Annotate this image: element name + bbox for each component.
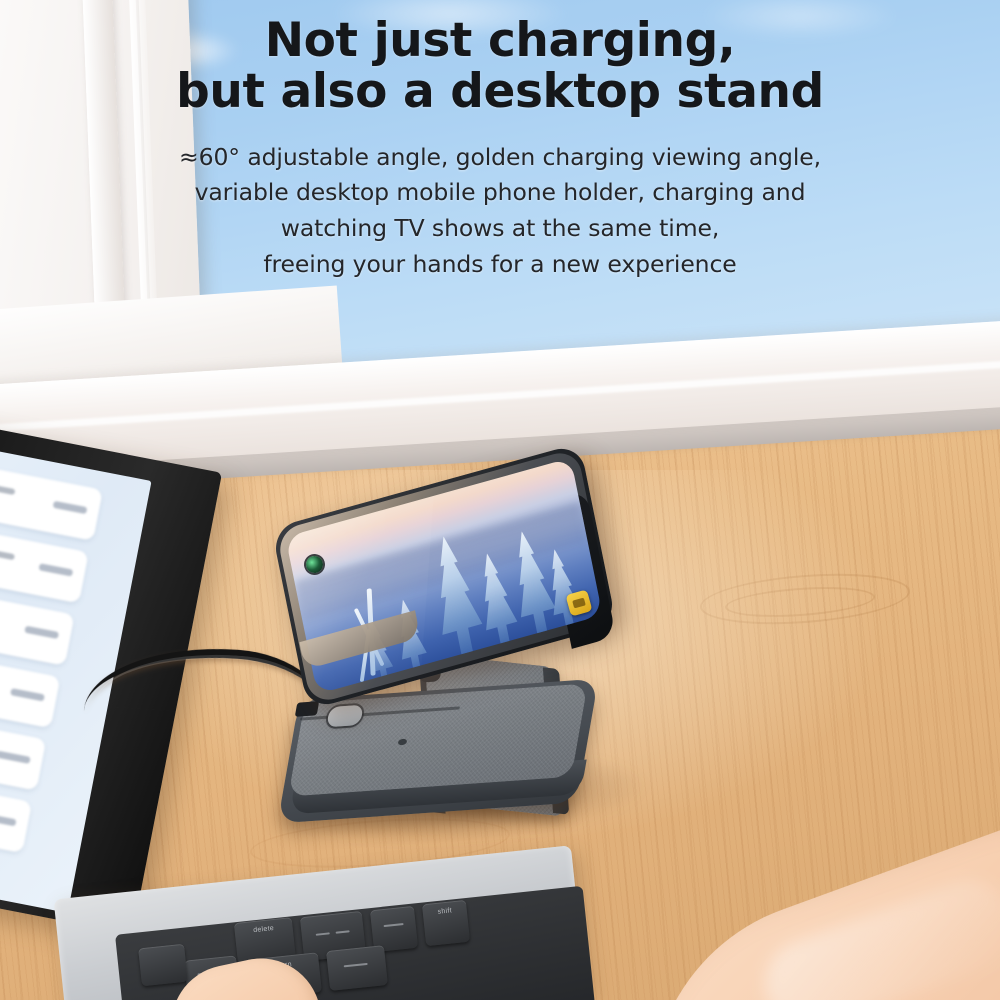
marketing-copy: Not just charging, but also a desktop st…	[0, 0, 1000, 282]
key-shift[interactable]: shift	[422, 900, 470, 946]
headline-line-2: but also a desktop stand	[0, 67, 1000, 118]
key-label: delete	[234, 923, 292, 936]
subcopy-line-4: freeing your hands for a new experience	[0, 247, 1000, 283]
subcopy-line-3: watching TV shows at the same time,	[0, 211, 1000, 247]
headline-line-1: Not just charging,	[265, 13, 736, 68]
subcopy: ≈60° adjustable angle, golden charging v…	[0, 140, 1000, 283]
key-blank-4[interactable]	[326, 945, 388, 991]
subcopy-line-2: variable desktop mobile phone holder, ch…	[0, 175, 1000, 211]
cable-port	[295, 701, 319, 717]
key-label: shift	[423, 906, 467, 918]
product-banner: yesido delete shift	[0, 0, 1000, 1000]
key-blank-5[interactable]	[138, 944, 188, 987]
page-title: Not just charging, but also a desktop st…	[0, 0, 1000, 118]
subcopy-line-1: ≈60° adjustable angle, golden charging v…	[0, 140, 1000, 176]
